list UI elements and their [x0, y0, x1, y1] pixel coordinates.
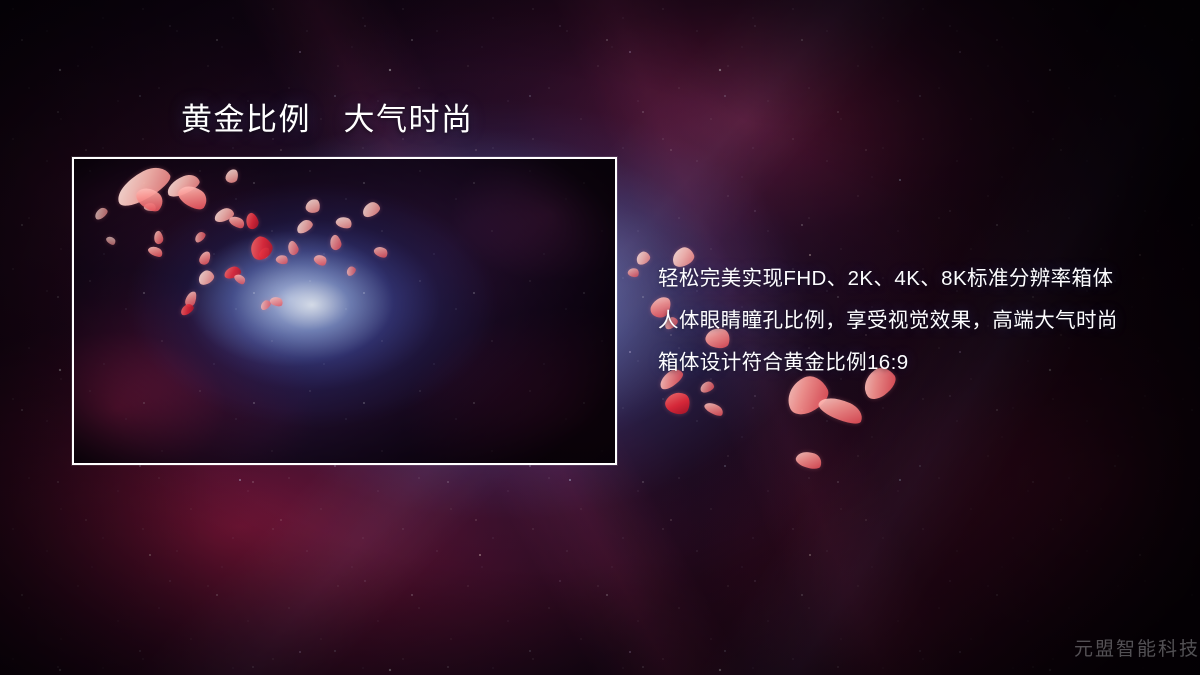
galaxy-photo-frame [72, 157, 617, 465]
feature-line-2: 人体眼睛瞳孔比例，享受视觉效果，高端大气时尚 [658, 300, 1158, 342]
galaxy-photo-vignette [74, 159, 615, 463]
brand-watermark: 元盟智能科技 [1074, 634, 1200, 661]
flower-petal [634, 250, 652, 267]
page-title: 黄金比例 大气时尚 [181, 101, 474, 139]
slide-canvas: 黄金比例 大气时尚 轻松完美实现FHD、2K、4K、8K标准分辨率箱体 人体眼睛… [0, 0, 1200, 675]
flower-petal [794, 448, 824, 472]
feature-description: 轻松完美实现FHD、2K、4K、8K标准分辨率箱体 人体眼睛瞳孔比例，享受视觉效… [658, 258, 1158, 384]
feature-line-3: 箱体设计符合黄金比例16:9 [658, 342, 1158, 384]
feature-line-1: 轻松完美实现FHD、2K、4K、8K标准分辨率箱体 [658, 258, 1158, 300]
flower-petal [816, 392, 866, 429]
flower-petal [627, 267, 640, 279]
flower-petal [663, 388, 694, 418]
flower-petal [703, 400, 725, 419]
